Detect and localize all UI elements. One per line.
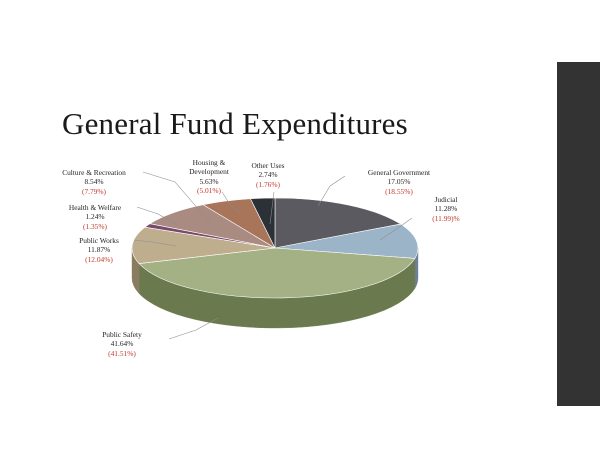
data-label-general-government: General Government 17.05% (18.55%) — [348, 168, 450, 196]
data-label-secondary-value: (11.99)% — [414, 214, 478, 223]
data-label-category: Health & Welfare — [48, 203, 142, 212]
pie-top-face — [132, 198, 418, 298]
data-label-secondary-value: (1.76%) — [240, 180, 296, 189]
data-label-public-safety: Public Safety 41.64% (41.51%) — [78, 330, 166, 358]
data-label-category: Culture & Recreation — [40, 168, 148, 177]
data-label-primary-value: 5.63% — [176, 177, 242, 186]
data-label-judicial: Judicial 11.28% (11.99)% — [414, 195, 478, 223]
data-label-other-uses: Other Uses 2.74% (1.76%) — [240, 161, 296, 189]
data-label-primary-value: 11.87% — [58, 245, 140, 254]
data-label-health-welfare: Health & Welfare 1.24% (1.35%) — [48, 203, 142, 231]
data-label-secondary-value: (12.04%) — [58, 255, 140, 264]
data-label-primary-value: 17.05% — [348, 177, 450, 186]
data-label-category: Judicial — [414, 195, 478, 204]
data-label-primary-value: 2.74% — [240, 170, 296, 179]
data-label-secondary-value: (5.01%) — [176, 186, 242, 195]
data-label-public-works: Public Works 11.87% (12.04%) — [58, 236, 140, 264]
data-label-category: General Government — [348, 168, 450, 177]
data-label-primary-value: 1.24% — [48, 212, 142, 221]
pie-chart-graphic — [0, 0, 600, 464]
data-label-primary-value: 41.64% — [78, 339, 166, 348]
data-label-secondary-value: (7.79%) — [40, 187, 148, 196]
slide-canvas: General Fund Expenditures Culture & R — [0, 0, 600, 464]
data-label-secondary-value: (1.35%) — [48, 222, 142, 231]
data-label-category-line2: Development — [176, 167, 242, 176]
data-label-culture-recreation: Culture & Recreation 8.54% (7.79%) — [40, 168, 148, 196]
data-label-housing-development: Housing & Development 5.63% (5.01%) — [176, 158, 242, 196]
data-label-primary-value: 11.28% — [414, 204, 478, 213]
data-label-primary-value: 8.54% — [40, 177, 148, 186]
data-label-secondary-value: (41.51%) — [78, 349, 166, 358]
data-label-category: Other Uses — [240, 161, 296, 170]
data-label-category-line1: Housing & — [176, 158, 242, 167]
data-label-category: Public Safety — [78, 330, 166, 339]
data-label-category: Public Works — [58, 236, 140, 245]
pie-chart: Culture & Recreation 8.54% (7.79%) Healt… — [0, 0, 600, 464]
